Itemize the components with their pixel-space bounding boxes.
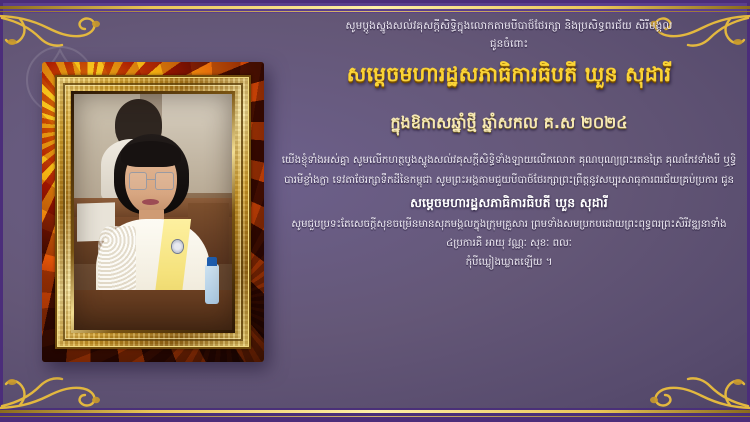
intro-line-2: ជូនចំពោះ [278, 36, 740, 53]
honoree-title: សម្តេចមហារដ្ឋសភាធិការធិបតី ឃួន សុដារី [278, 62, 740, 88]
bottom-gold-line-secondary [0, 416, 750, 417]
occasion-subtitle: ក្នុងឱកាសឆ្នាំថ្មី ឆ្នាំសកល គ.ស ២០២៤ [278, 113, 740, 134]
corner-flourish-top-left-icon [0, 10, 112, 56]
portrait-frame [42, 62, 264, 362]
top-gold-line-secondary [0, 11, 750, 12]
photo-vignette [74, 94, 232, 330]
intro-line-1: សូមប្តូងស្នូងសល់វគុសក្តីសិទ្ធិក្នុងលោកតា… [278, 18, 740, 35]
body-line-7: កុំបីឃ្លៀងឃ្លាតឡើយ ។ [279, 253, 739, 272]
greeting-card: សូមប្តូងស្នូងសល់វគុសក្តីសិទ្ធិក្នុងលោកតា… [0, 0, 750, 422]
body-line-3: សូមព្រះអង្គតាមជួយបីបាថ៍ថែរក្សាព្រះព្រឹត្… [436, 175, 734, 186]
body-honoree-name: សម្តេចមហារដ្ឋសភាធិការធិបតី ឃួន សុដារី [279, 191, 739, 214]
corner-flourish-bottom-left-icon [0, 368, 112, 414]
body-text: យើងខ្ញុំទាំងអស់គ្នា សូមលើកហត្ថបូងស្នូងសល… [278, 151, 740, 272]
portrait-photo [74, 94, 232, 330]
frame-inner-bevel [71, 91, 235, 333]
body-line-1: យើងខ្ញុំទាំងអស់គ្នា សូមលើកហត្ថបូងស្នូងសល… [282, 155, 576, 166]
body-line-5: សូមជួបប្រទះតែសេចក្តីសុខចម្រើនមានសុភមង្គល… [291, 219, 527, 230]
bottom-gold-line [0, 410, 750, 413]
greeting-text-column: សូមប្តូងស្នូងសល់វគុសក្តីសិទ្ធិក្នុងលោកតា… [278, 16, 740, 408]
top-gold-line [0, 6, 750, 9]
